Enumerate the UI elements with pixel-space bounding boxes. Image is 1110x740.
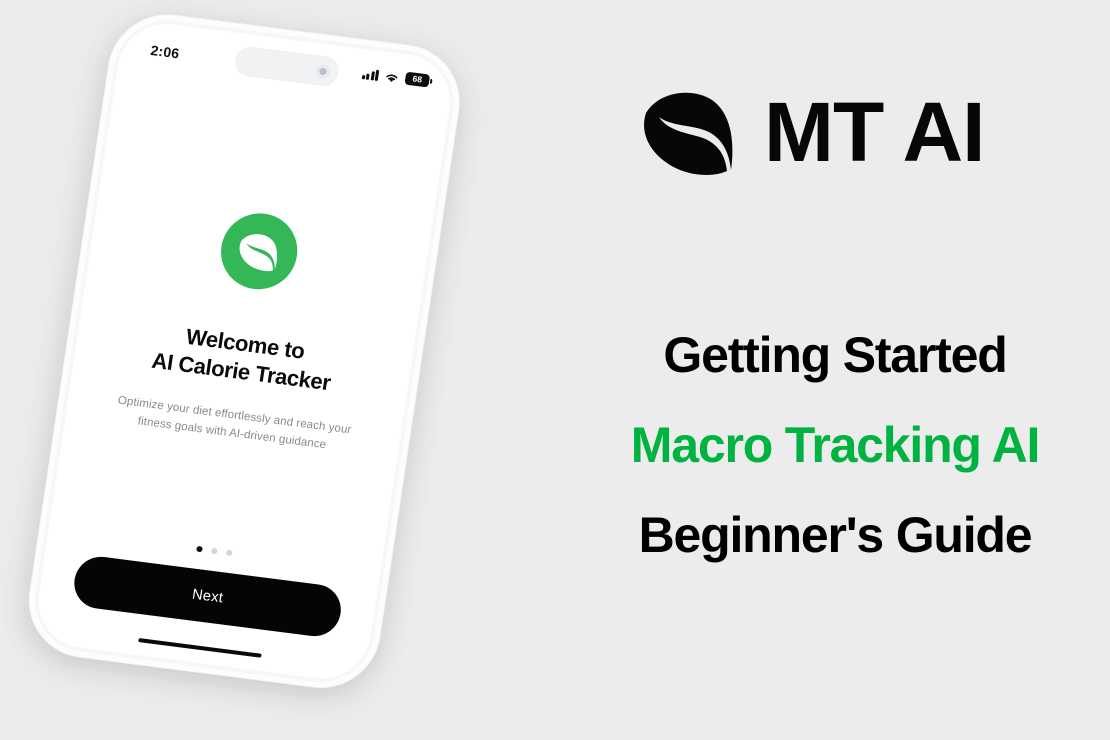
headline-block: Getting Started Macro Tracking AI Beginn… [560,330,1110,560]
dynamic-island [233,45,341,88]
headline-line-2: Macro Tracking AI [560,420,1110,470]
battery-level-text: 68 [412,75,423,85]
page-dot-3[interactable] [226,550,233,557]
welcome-subtitle: Optimize your diet effortlessly and reac… [102,391,365,459]
app-logo-badge [216,209,303,294]
phone-screen: 2:06 [32,18,456,684]
brand-lockup: MT AI [640,86,985,178]
wifi-icon [384,70,401,84]
leaf-icon [234,229,284,274]
headline-line-3: Beginner's Guide [560,510,1110,560]
brand-name: MT AI [764,90,985,174]
home-indicator[interactable] [138,638,262,658]
phone-frame: 2:06 [22,8,467,694]
page-dot-1[interactable] [196,546,203,553]
leaf-icon [640,86,740,178]
page-indicator[interactable] [196,546,233,557]
headline-line-1: Getting Started [560,330,1110,380]
battery-icon: 68 [404,72,430,88]
right-panel: MT AI Getting Started Macro Tracking AI … [560,0,1110,740]
flex-spacer [215,443,231,548]
phone-mockup: 2:06 [5,0,495,731]
cellular-signal-icon [361,67,379,81]
front-camera-icon [316,64,331,79]
onboarding-screen: Welcome to AI Calorie Tracker Optimize y… [32,76,448,684]
next-button[interactable]: Next [71,554,345,639]
status-icons: 68 [361,66,430,87]
page-dot-2[interactable] [211,548,218,555]
welcome-title: Welcome to AI Calorie Tracker [150,319,337,398]
poster-canvas: 2:06 [0,0,1110,740]
status-time: 2:06 [150,42,181,61]
